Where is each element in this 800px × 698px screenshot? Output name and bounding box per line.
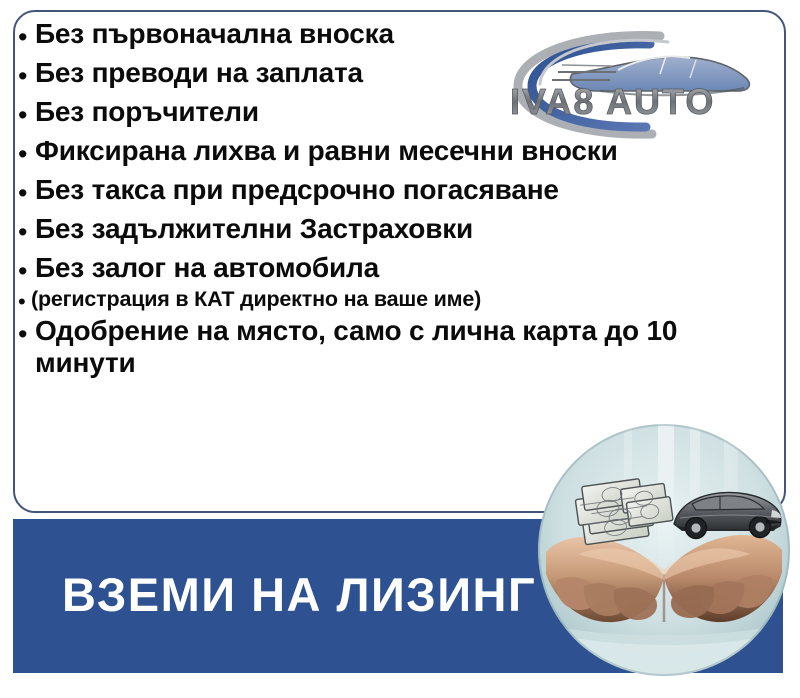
benefit-note: (регистрация в КАТ директно на ваше име) (31, 287, 778, 312)
list-item: • Одобрение на място, само с лична карта… (18, 315, 778, 380)
list-item: • Без задължителни Застраховки (18, 213, 778, 246)
list-item: • (регистрация в КАТ директно на ваше им… (18, 287, 778, 313)
list-item: • Без залог на автомобила (18, 252, 778, 285)
bullet-icon: • (18, 213, 35, 246)
bullet-icon: • (18, 315, 35, 348)
bullet-icon: • (18, 135, 35, 168)
benefit-label: Одобрение на място, само с лична карта д… (35, 315, 778, 380)
list-item: • Без такса при предсрочно погасяване (18, 174, 778, 207)
leasing-advertisement-poster: • Без първоначална вноска • Без преводи … (0, 0, 800, 698)
benefit-label: Без задължителни Застраховки (35, 213, 778, 245)
hands-money-car-photo (538, 424, 790, 676)
benefit-label: Без залог на автомобила (35, 252, 778, 284)
bullet-icon: • (18, 252, 35, 285)
bullet-icon: • (18, 174, 35, 207)
bullet-icon: • (18, 57, 35, 90)
bullet-icon: • (18, 18, 35, 51)
bullet-icon: • (18, 96, 35, 129)
bullet-icon: • (18, 287, 31, 313)
logo-wordmark: IVA8 AUTO (510, 81, 715, 122)
cta-headline: ВЗЕМИ НА ЛИЗИНГ (62, 571, 536, 618)
ivas-auto-logo: IVA8 AUTO (500, 28, 765, 140)
benefit-label: Без такса при предсрочно погасяване (35, 174, 778, 206)
